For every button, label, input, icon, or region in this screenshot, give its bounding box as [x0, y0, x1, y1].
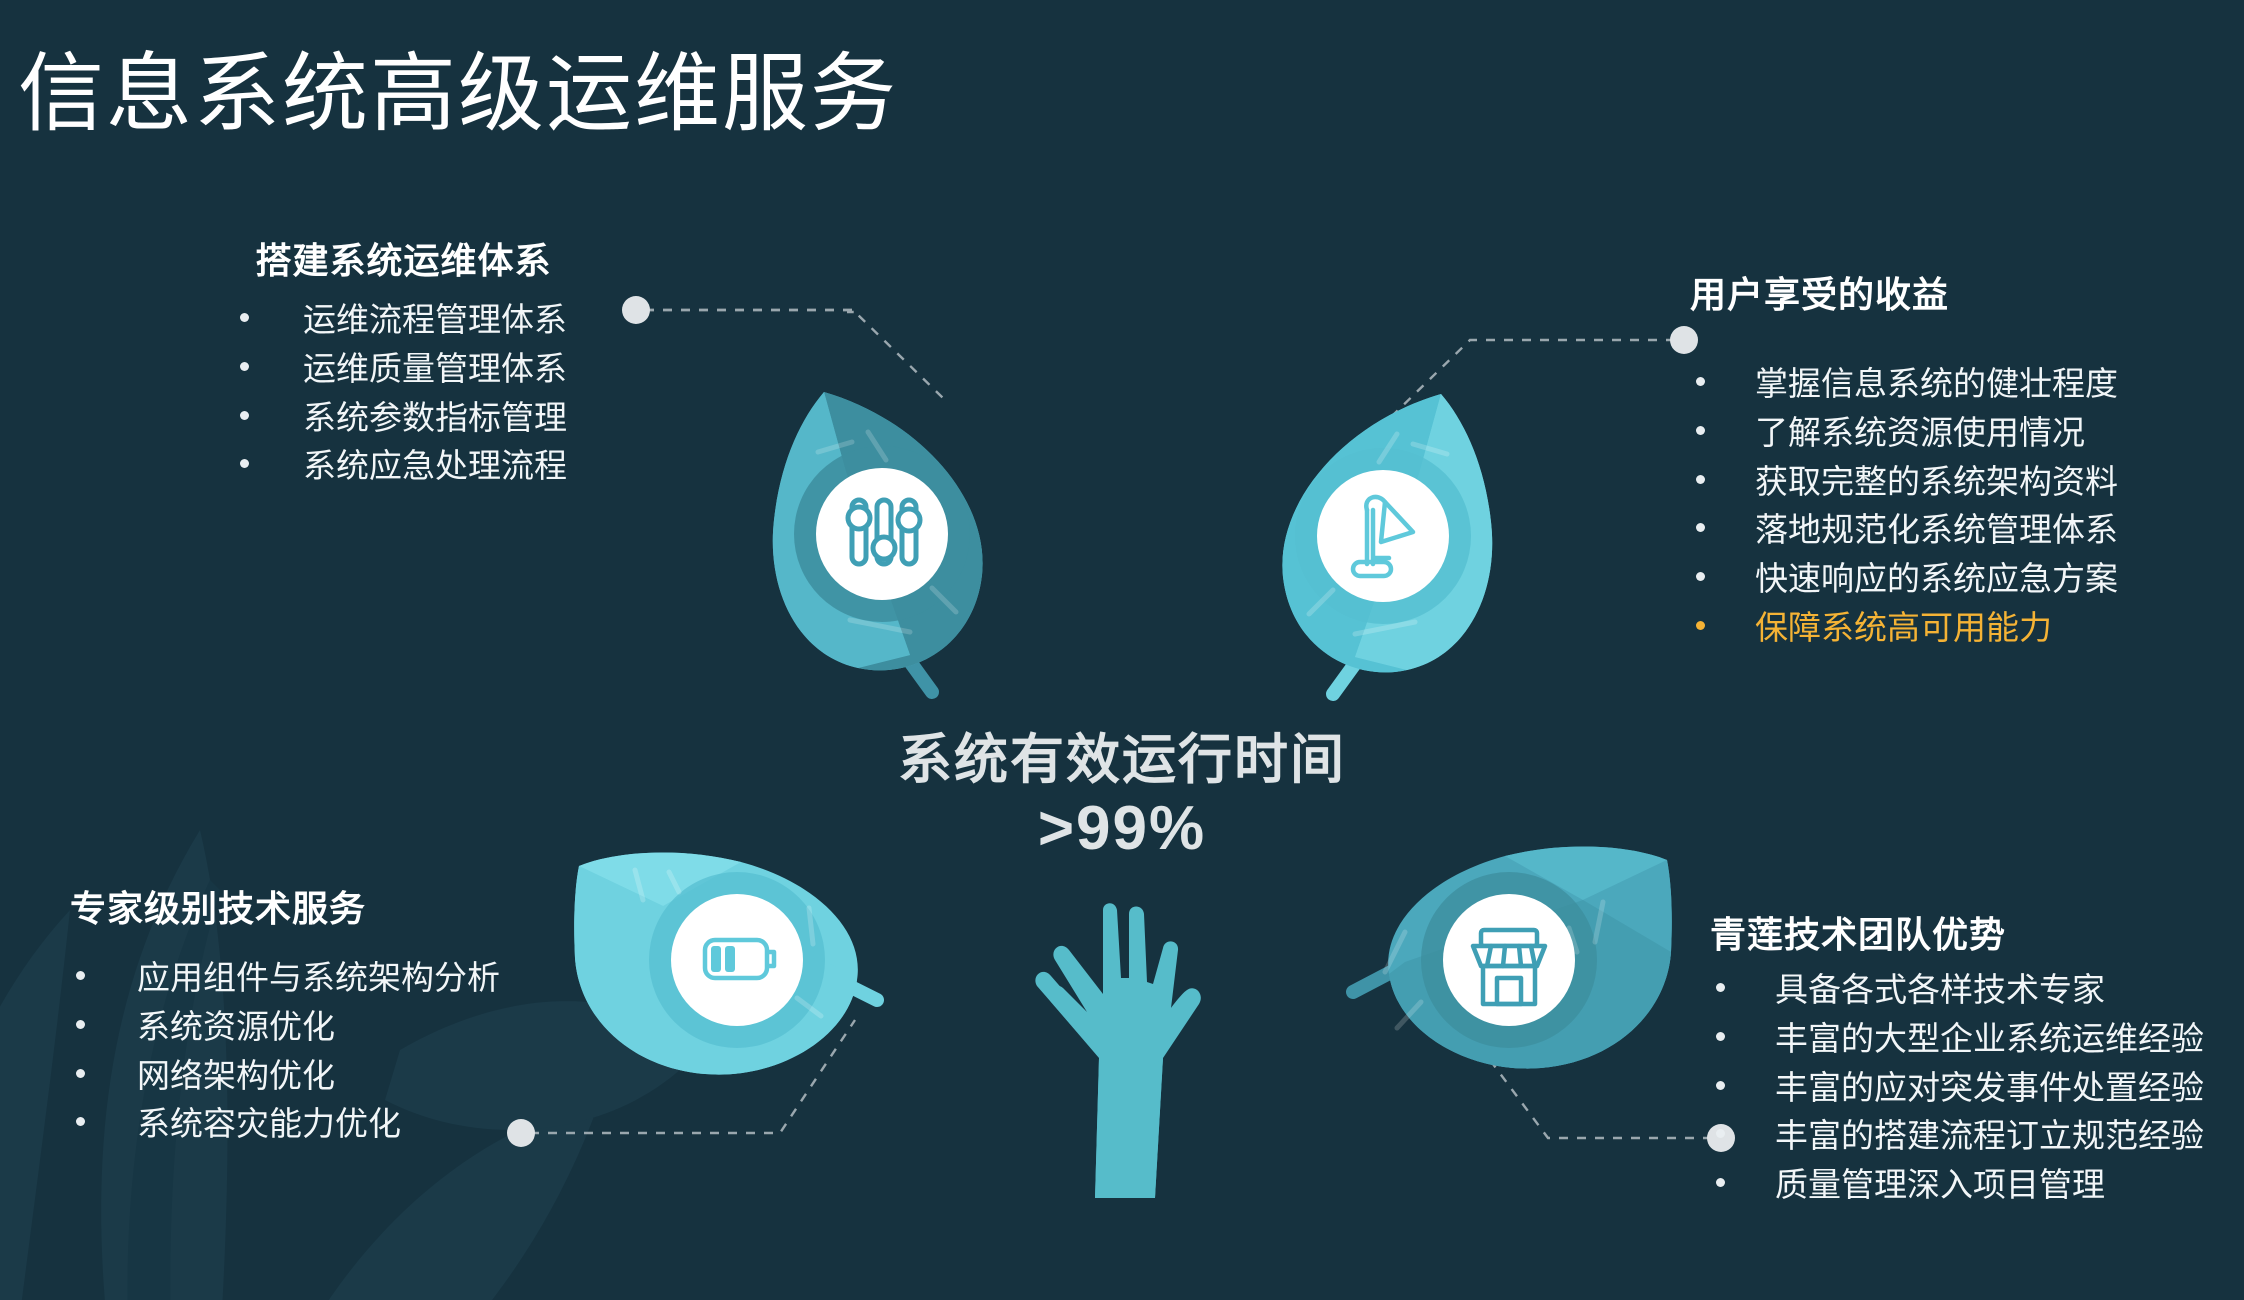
bullet-dot-icon — [240, 313, 249, 322]
block-heading-bottom-left: 专家级别技术服务 — [70, 880, 500, 932]
list-item: 运维流程管理体系 — [210, 296, 567, 345]
list-item-label: 掌握信息系统的健壮程度 — [1755, 360, 2118, 409]
list-item: 系统容灾能力优化 — [70, 1100, 500, 1149]
leaf-battery[interactable] — [565, 848, 905, 1108]
bullet-dot-icon — [1716, 1178, 1725, 1187]
list-item-label: 了解系统资源使用情况 — [1755, 409, 2085, 458]
list-item: 网络架构优化 — [70, 1052, 500, 1101]
block-team-strengths: 青莲技术团队优势 具备各式各样技术专家 丰富的大型企业系统运维经验 丰富的应对突… — [1710, 906, 2204, 1210]
slide-canvas: 信息系统高级运维服务 搭建系统运维体系 运维流程管理体系 运维质量管理体系 系统… — [0, 0, 2244, 1300]
bullet-dot-icon — [1696, 475, 1705, 484]
block-heading-bottom-right: 青莲技术团队优势 — [1710, 906, 2204, 958]
leaf-sliders[interactable] — [760, 380, 1010, 710]
block-expert-services: 专家级别技术服务 应用组件与系统架构分析 系统资源优化 网络架构优化 系统容灾能… — [70, 880, 500, 1149]
list-item-label: 快速响应的系统应急方案 — [1755, 555, 2118, 604]
bullet-dot-icon — [1696, 523, 1705, 532]
list-item-label: 质量管理深入项目管理 — [1775, 1161, 2105, 1210]
list-item-label: 具备各式各样技术专家 — [1775, 966, 2105, 1015]
bullet-dot-icon — [1716, 1032, 1725, 1041]
bullet-dot-icon — [240, 459, 249, 468]
list-item-label: 系统应急处理流程 — [303, 442, 567, 491]
bullet-dot-icon — [240, 411, 249, 420]
bullet-dot-icon — [76, 1020, 85, 1029]
list-item-label: 丰富的大型企业系统运维经验 — [1775, 1015, 2204, 1064]
connector-dot-top-left — [622, 296, 650, 324]
block-user-benefits: 用户享受的收益 掌握信息系统的健壮程度 了解系统资源使用情况 获取完整的系统架构… — [1690, 266, 2118, 653]
list-item: 快速响应的系统应急方案 — [1690, 555, 2118, 604]
list-item-label: 落地规范化系统管理体系 — [1755, 506, 2118, 555]
bullet-dot-icon — [76, 1069, 85, 1078]
list-item: 系统参数指标管理 — [210, 394, 567, 443]
list-item: 落地规范化系统管理体系 — [1690, 506, 2118, 555]
bullet-dot-icon — [1696, 377, 1705, 386]
leaf-stem — [1353, 970, 1395, 992]
block-list-top-right: 掌握信息系统的健壮程度 了解系统资源使用情况 获取完整的系统架构资料 落地规范化… — [1690, 360, 2118, 653]
bullet-dot-icon — [76, 1117, 85, 1126]
list-item: 获取完整的系统架构资料 — [1690, 458, 2118, 507]
list-item-highlighted: 保障系统高可用能力 — [1690, 604, 2118, 653]
list-item: 具备各式各样技术专家 — [1710, 966, 2204, 1015]
bullet-dot-icon — [1716, 983, 1725, 992]
list-item-label: 丰富的应对突发事件处置经验 — [1775, 1064, 2204, 1113]
list-item: 了解系统资源使用情况 — [1690, 409, 2118, 458]
page-title: 信息系统高级运维服务 — [18, 48, 898, 141]
list-item: 系统应急处理流程 — [210, 442, 567, 491]
block-list-bottom-left: 应用组件与系统架构分析 系统资源优化 网络架构优化 系统容灾能力优化 — [70, 954, 500, 1149]
bullet-dot-icon — [76, 971, 85, 980]
list-item: 系统资源优化 — [70, 1003, 500, 1052]
list-item: 应用组件与系统架构分析 — [70, 954, 500, 1003]
block-heading-top-right: 用户享受的收益 — [1690, 266, 2118, 318]
bullet-dot-icon — [1696, 572, 1705, 581]
bullet-dot-icon — [1696, 426, 1705, 435]
list-item-label: 应用组件与系统架构分析 — [137, 954, 500, 1003]
list-item-label: 系统容灾能力优化 — [137, 1100, 401, 1149]
list-item-label: 获取完整的系统架构资料 — [1755, 458, 2118, 507]
list-item-label: 系统资源优化 — [137, 1003, 335, 1052]
list-item: 丰富的搭建流程订立规范经验 — [1710, 1112, 2204, 1161]
bullet-dot-icon — [1716, 1129, 1725, 1138]
connector-dot-bottom-left — [507, 1119, 535, 1147]
list-item-label: 丰富的搭建流程订立规范经验 — [1775, 1112, 2204, 1161]
list-item-label: 系统参数指标管理 — [303, 394, 567, 443]
list-item-label: 保障系统高可用能力 — [1755, 604, 2052, 653]
list-item-label: 网络架构优化 — [137, 1052, 335, 1101]
block-heading-top-left: 搭建系统运维体系 — [210, 232, 567, 284]
leaf-icon-disc — [816, 468, 948, 600]
leaf-shop[interactable] — [1345, 842, 1685, 1112]
list-item: 掌握信息系统的健壮程度 — [1690, 360, 2118, 409]
leaf-icon-disc — [671, 894, 803, 1026]
block-build-ops-system: 搭建系统运维体系 运维流程管理体系 运维质量管理体系 系统参数指标管理 系统应急… — [210, 232, 567, 491]
list-item: 质量管理深入项目管理 — [1710, 1161, 2204, 1210]
list-item: 丰富的应对突发事件处置经验 — [1710, 1064, 2204, 1113]
block-list-bottom-right: 具备各式各样技术专家 丰富的大型企业系统运维经验 丰富的应对突发事件处置经验 丰… — [1710, 966, 2204, 1210]
list-item: 运维质量管理体系 — [210, 345, 567, 394]
bullet-dot-icon — [1716, 1081, 1725, 1090]
block-list-top-left: 运维流程管理体系 运维质量管理体系 系统参数指标管理 系统应急处理流程 — [210, 296, 567, 491]
bullet-dot-icon — [240, 362, 249, 371]
list-item-label: 运维质量管理体系 — [303, 345, 567, 394]
list-item: 丰富的大型企业系统运维经验 — [1710, 1015, 2204, 1064]
bullet-dot-icon — [1696, 621, 1705, 630]
leaf-lamp[interactable] — [1255, 382, 1505, 712]
raised-hand-icon — [995, 898, 1225, 1208]
list-item-label: 运维流程管理体系 — [303, 296, 567, 345]
